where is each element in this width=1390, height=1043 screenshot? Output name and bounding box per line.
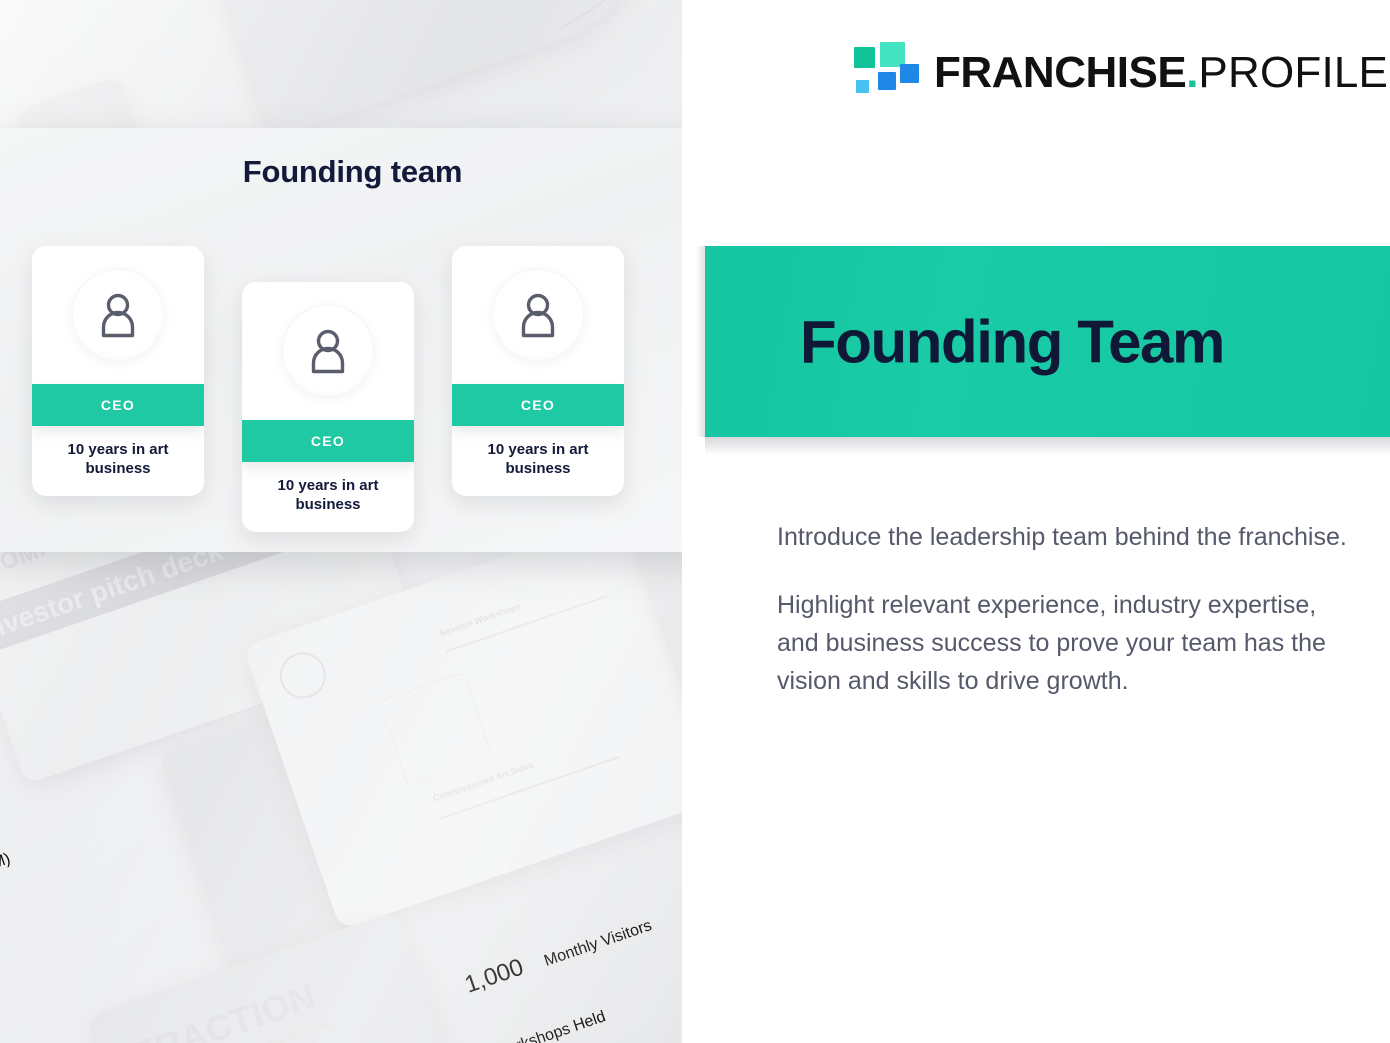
person-icon [96, 292, 140, 338]
description-paragraph: Introduce the leadership team behind the… [777, 518, 1347, 556]
team-member-card-list: CEO 10 years in art business CEO 10 year… [0, 128, 705, 552]
role-badge: CEO [452, 384, 624, 426]
slide-preview-page: MARKET Growing audiences in urban and su… [0, 0, 1390, 1043]
role-badge: CEO [242, 420, 414, 462]
avatar [452, 246, 624, 384]
brand-word-dot: . [1186, 48, 1198, 97]
avatar [32, 246, 204, 384]
title-band-shadow [705, 437, 1390, 455]
member-detail: 10 years in art business [452, 426, 624, 496]
bg-traction-stat-label: Workshops Held [492, 1008, 608, 1043]
team-member-card[interactable]: CEO 10 years in art business [452, 246, 624, 496]
team-member-card[interactable]: CEO 10 years in art business [242, 282, 414, 532]
person-icon [516, 292, 560, 338]
section-title-band: Founding Team [705, 246, 1390, 437]
brand-word-secondary: PROFILES [1198, 48, 1390, 97]
team-member-card[interactable]: CEO 10 years in art business [32, 246, 204, 496]
content-panel: FRANCHISE.PROFILES Founding Team Introdu… [682, 0, 1390, 1043]
section-description: Introduce the leadership team behind the… [777, 518, 1347, 700]
bg-arrow-icon-2 [545, 0, 678, 44]
bg-traction-stat-2: 75 Workshops Held [448, 1004, 608, 1043]
brand-logo[interactable]: FRANCHISE.PROFILES [850, 42, 1390, 104]
bg-traction-stat: 1,000 Monthly Visitors [461, 910, 655, 1000]
role-badge: CEO [32, 384, 204, 426]
bg-traction-stat-label: Monthly Visitors [542, 917, 654, 970]
avatar [242, 282, 414, 420]
founding-team-preview-slide[interactable]: Founding team CEO 10 years in art busine… [0, 128, 705, 552]
page-title: Founding Team [800, 307, 1224, 376]
brand-wordmark: FRANCHISE.PROFILES [934, 51, 1390, 95]
person-icon [306, 328, 350, 374]
bg-slide-traction-title: TRACTION [129, 954, 389, 1043]
member-detail: 10 years in art business [32, 426, 204, 496]
description-paragraph: Highlight relevant experience, industry … [777, 586, 1347, 700]
franchise-profiles-squares-logo-icon [850, 42, 912, 104]
bg-som-label: Serviceable Obtainable Market (SOM) [0, 810, 31, 900]
bg-revenue-item: Session Workshops [438, 600, 523, 640]
brand-word-primary: FRANCHISE [934, 48, 1186, 97]
bg-traction-stat-value: 1,000 [461, 954, 527, 999]
member-detail: 10 years in art business [242, 462, 414, 532]
